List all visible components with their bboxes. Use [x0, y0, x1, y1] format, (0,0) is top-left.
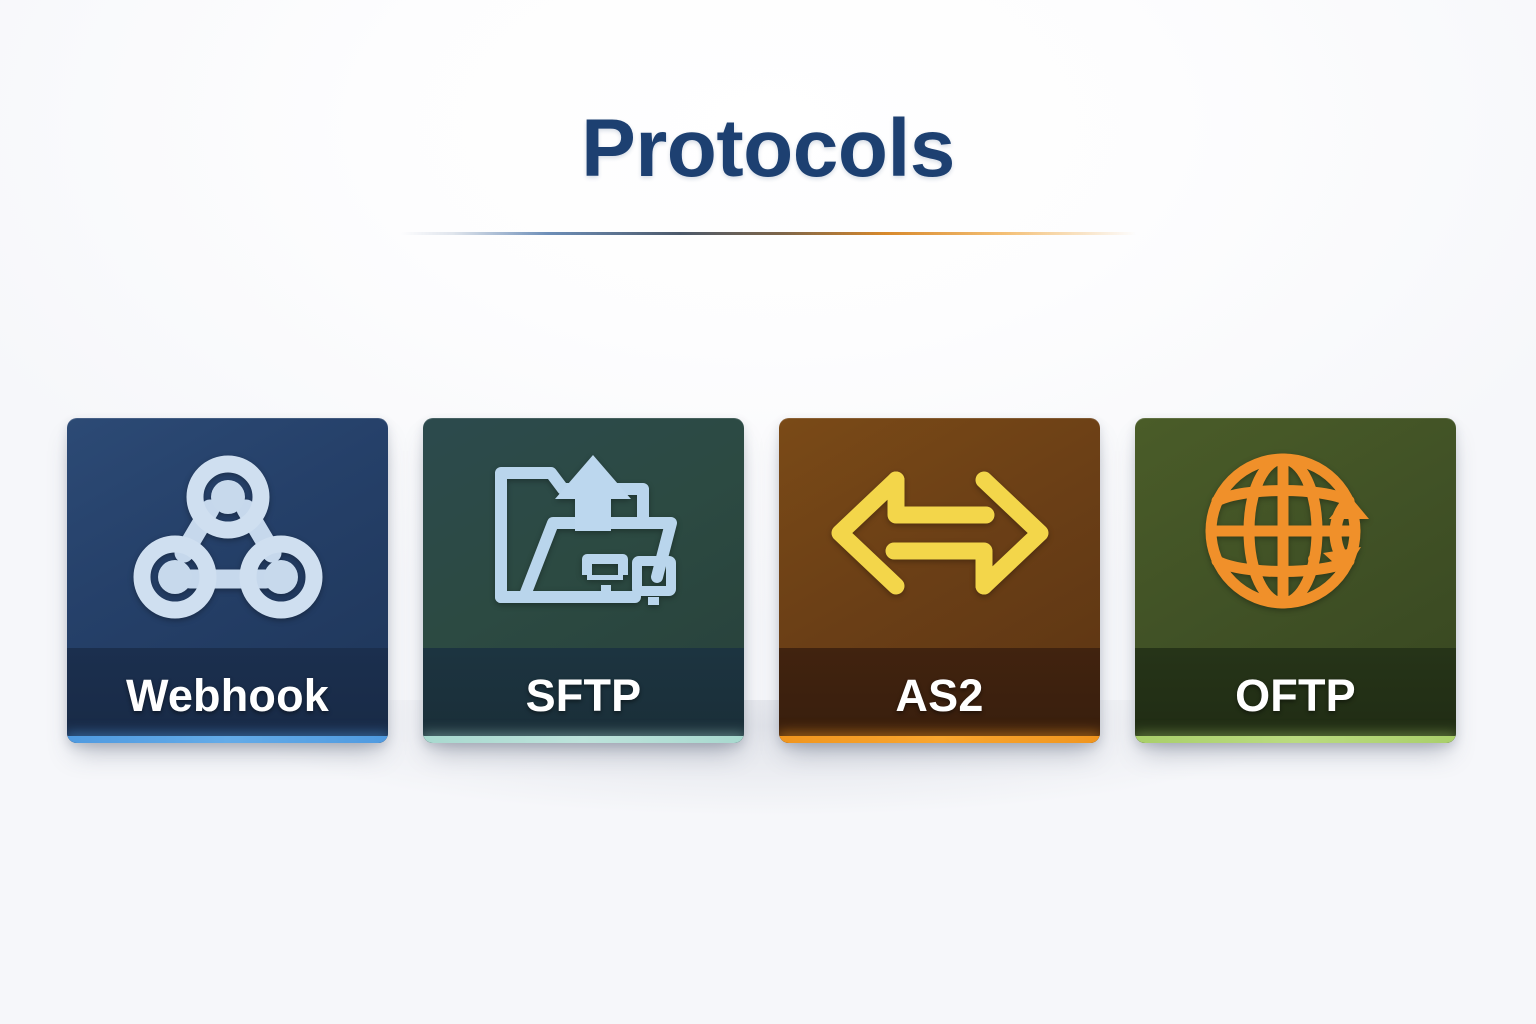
protocol-card-sftp[interactable]: SFTP: [423, 418, 744, 743]
card-icon-area: [423, 418, 744, 648]
protocol-card-as2[interactable]: AS2: [779, 418, 1100, 743]
card-icon-area: [779, 418, 1100, 648]
card-accent-bar: [1135, 736, 1456, 743]
card-icon-area: [67, 418, 388, 648]
globe-refresh-icon: [1195, 443, 1397, 623]
card-icon-area: [1135, 418, 1456, 648]
protocol-card-webhook[interactable]: Webhook: [67, 418, 388, 743]
card-label-band: SFTP: [423, 648, 744, 743]
card-label-oftp: OFTP: [1235, 673, 1356, 718]
card-label-band: AS2: [779, 648, 1100, 743]
card-label-as2: AS2: [895, 673, 983, 718]
title-divider: [401, 232, 1136, 235]
card-label-band: OFTP: [1135, 648, 1456, 743]
card-accent-bar: [779, 736, 1100, 743]
page-header: Protocols: [0, 0, 1536, 300]
protocol-card-row: Webhook: [67, 418, 1456, 743]
webhook-nodes-icon: [128, 447, 328, 619]
card-label-webhook: Webhook: [126, 673, 329, 718]
protocol-card-oftp[interactable]: OFTP: [1135, 418, 1456, 743]
card-accent-bar: [423, 736, 744, 743]
bidirectional-exchange-arrows-icon: [830, 460, 1050, 606]
folder-upload-icon: [485, 445, 683, 621]
page-title: Protocols: [581, 108, 955, 190]
card-label-sftp: SFTP: [526, 673, 642, 718]
card-accent-bar: [67, 736, 388, 743]
card-label-band: Webhook: [67, 648, 388, 743]
